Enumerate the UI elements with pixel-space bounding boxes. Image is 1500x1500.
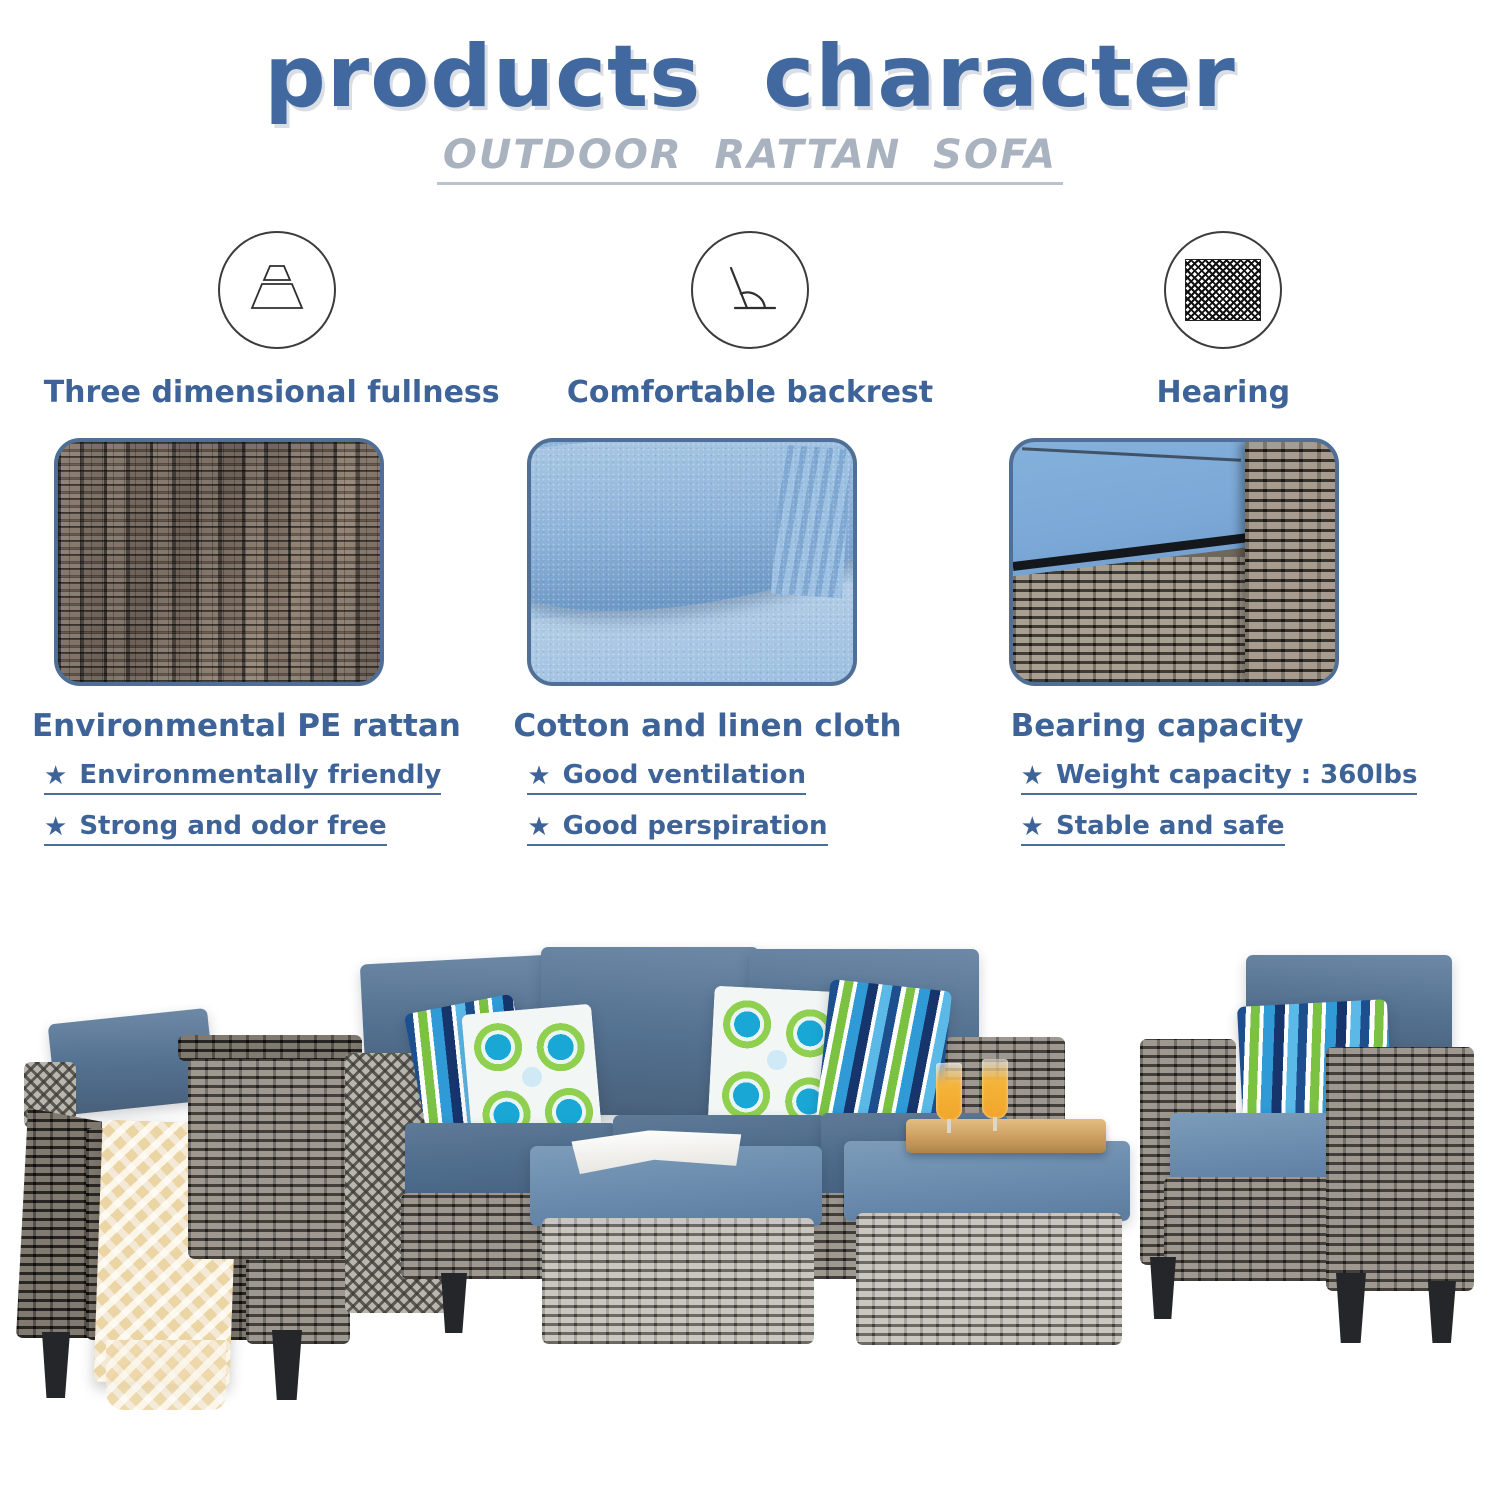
left-ottoman-with-magazine bbox=[520, 1130, 830, 1350]
bullet-text: Strong and odor free bbox=[79, 811, 386, 841]
panel-bullet: ★ Good perspiration bbox=[527, 811, 827, 846]
bullet-text: Good perspiration bbox=[563, 811, 828, 841]
blue-cushion-fabric-photo bbox=[527, 438, 857, 686]
panel-title: Bearing capacity bbox=[1011, 708, 1460, 744]
recline-angle-icon bbox=[691, 231, 809, 349]
armchair-leg-front-left bbox=[42, 1332, 70, 1398]
feature-comfortable-backrest: Comfortable backrest bbox=[513, 231, 986, 410]
armchair-right-arm bbox=[1326, 1047, 1474, 1291]
panel-bullet: ★ Weight capacity : 360lbs bbox=[1021, 760, 1418, 795]
right-armchair bbox=[1140, 955, 1490, 1365]
right-ottoman-with-tray bbox=[836, 1105, 1136, 1355]
champagne-flute-left-stem bbox=[947, 1119, 951, 1133]
detail-panel-bearing-capacity: Bearing capacity ★ Weight capacity : 360… bbox=[987, 438, 1460, 846]
bullet-text: Environmentally friendly bbox=[79, 760, 441, 790]
rattan-weave-photo bbox=[54, 438, 384, 686]
panel-bullet: ★ Stable and safe bbox=[1021, 811, 1285, 846]
star-icon: ★ bbox=[1021, 762, 1044, 788]
detail-panel-row: Environmental PE rattan ★ Environmentall… bbox=[0, 438, 1500, 846]
star-icon: ★ bbox=[44, 762, 67, 788]
feature-label: Three dimensional fullness bbox=[44, 375, 500, 410]
pyramid-tiers-icon bbox=[218, 231, 336, 349]
bullet-text: Good ventilation bbox=[563, 760, 806, 790]
mesh-pattern-swatch bbox=[1185, 259, 1261, 321]
panel-bullet: ★ Strong and odor free bbox=[44, 811, 387, 846]
wooden-serving-tray bbox=[906, 1119, 1106, 1153]
feature-label: Hearing bbox=[1157, 375, 1291, 410]
armchair-leg-front-right bbox=[1336, 1273, 1366, 1343]
panel-bullet: ★ Good ventilation bbox=[527, 760, 806, 795]
feature-three-dimensional-fullness: Three dimensional fullness bbox=[40, 231, 513, 410]
sofa-leg-left bbox=[441, 1273, 467, 1333]
page-subtitle: OUTDOOR RATTAN SOFA bbox=[437, 132, 1063, 185]
page-title: products character bbox=[0, 34, 1500, 120]
armchair-leg-front-right bbox=[272, 1330, 302, 1400]
feature-hearing: Hearing bbox=[987, 231, 1460, 410]
bullet-text: Stable and safe bbox=[1056, 811, 1285, 841]
side-table-top bbox=[178, 1035, 362, 1061]
panel-title: Cotton and linen cloth bbox=[513, 708, 986, 744]
throw-blanket-fringe bbox=[106, 1340, 226, 1410]
star-icon: ★ bbox=[527, 762, 550, 788]
star-icon: ★ bbox=[527, 813, 550, 839]
panel-title: Environmental PE rattan bbox=[32, 708, 513, 744]
armchair-leg-front-left bbox=[1150, 1257, 1176, 1319]
rattan-corner-frame-photo bbox=[1009, 438, 1339, 686]
detail-panel-cotton-linen: Cotton and linen cloth ★ Good ventilatio… bbox=[513, 438, 986, 846]
mesh-weave-icon bbox=[1164, 231, 1282, 349]
side-table bbox=[178, 1035, 362, 1285]
ottoman-frame bbox=[856, 1213, 1122, 1345]
bullet-text: Weight capacity : 360lbs bbox=[1056, 760, 1418, 790]
side-table-body bbox=[188, 1059, 352, 1259]
feature-icon-row: Three dimensional fullness Comfortable b… bbox=[0, 231, 1500, 410]
detail-panel-pe-rattan: Environmental PE rattan ★ Environmentall… bbox=[40, 438, 513, 846]
star-icon: ★ bbox=[1021, 813, 1044, 839]
star-icon: ★ bbox=[44, 813, 67, 839]
outdoor-rattan-sofa-set-photo bbox=[0, 915, 1500, 1415]
champagne-flute-right-stem bbox=[993, 1117, 997, 1131]
ottoman-cushion bbox=[844, 1141, 1130, 1221]
armchair-leg-back-right bbox=[1428, 1281, 1456, 1343]
page-header: products character OUTDOOR RATTAN SOFA bbox=[0, 0, 1500, 185]
champagne-flute-left bbox=[936, 1063, 962, 1121]
panel-bullet: ★ Environmentally friendly bbox=[44, 760, 441, 795]
champagne-flute-right bbox=[982, 1059, 1008, 1119]
ottoman-frame bbox=[542, 1218, 814, 1344]
feature-label: Comfortable backrest bbox=[567, 375, 933, 410]
